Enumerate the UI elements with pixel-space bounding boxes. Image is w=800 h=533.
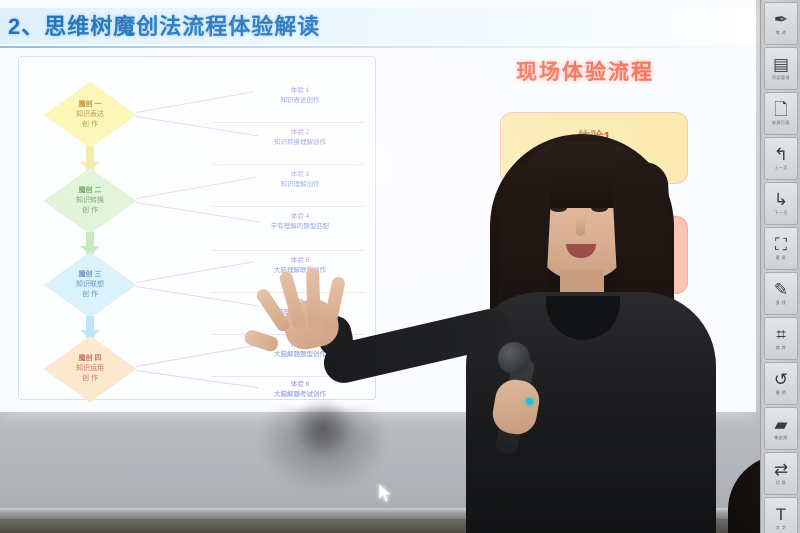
text-tool-glyph: T bbox=[776, 506, 786, 523]
pen-nib-glyph: ✒ bbox=[774, 11, 788, 28]
screen-capture-caption: 截 屏 bbox=[776, 255, 787, 261]
flow-step-1-line2: 知识表达 bbox=[76, 110, 104, 120]
experience-label-1-num: 体验 1 bbox=[236, 86, 364, 96]
flow-step-4-index: 魔创 四 bbox=[79, 354, 102, 364]
label-separator bbox=[212, 250, 364, 251]
title-divider bbox=[0, 46, 756, 48]
page-prev-caption: 上一页 bbox=[774, 165, 788, 171]
presenter-nose bbox=[576, 216, 585, 236]
line-tool-icon[interactable]: ✎ 直 线 bbox=[764, 272, 798, 315]
flow-step-2-line3: 创 作 bbox=[82, 206, 98, 216]
flow-step-4-line2: 知识运用 bbox=[76, 364, 104, 374]
right-panel-heading: 现场体验流程 bbox=[516, 56, 654, 86]
flow-step-2-line2: 知识转换 bbox=[76, 196, 104, 206]
slide-title: 2、思维树魔创法流程体验解读 bbox=[8, 9, 320, 41]
pages-stack-caption: 页面管理 bbox=[772, 75, 790, 81]
experience-label-2[interactable]: 体验 2 知识转换理解创作 bbox=[236, 128, 364, 149]
experience-label-3[interactable]: 体验 3 知识理解创作 bbox=[236, 170, 364, 191]
presenter-pointing-hand bbox=[268, 260, 348, 346]
flow-step-1-line3: 创 作 bbox=[82, 120, 98, 130]
crop-marks-icon[interactable]: ⌗ 裁 剪 bbox=[764, 317, 798, 360]
label-separator bbox=[212, 206, 364, 207]
text-tool-icon[interactable]: T 文 字 bbox=[764, 497, 798, 533]
experience-label-2-text: 知识转换理解创作 bbox=[236, 138, 364, 148]
page-next-icon[interactable]: ↳ 下一页 bbox=[764, 182, 798, 225]
flow-step-4-line3: 创 作 bbox=[82, 374, 98, 384]
experience-label-2-num: 体验 2 bbox=[236, 128, 364, 138]
experience-label-3-text: 知识理解创作 bbox=[236, 180, 364, 190]
pages-stack-icon[interactable]: ▤ 页面管理 bbox=[764, 47, 798, 90]
experience-label-3-num: 体验 3 bbox=[236, 170, 364, 180]
experience-label-4[interactable]: 体验 4 学有理解的题型匹配 bbox=[236, 212, 364, 233]
blank-page-icon[interactable]: 🗋 新建页面 bbox=[764, 92, 798, 135]
page-prev-glyph: ↰ bbox=[774, 146, 788, 163]
undo-arrow-caption: 撤 销 bbox=[776, 390, 787, 396]
crop-marks-caption: 裁 剪 bbox=[776, 345, 787, 351]
page-prev-icon[interactable]: ↰ 上一页 bbox=[764, 137, 798, 180]
flow-step-3-index: 魔创 三 bbox=[79, 270, 102, 280]
undo-arrow-glyph: ↺ bbox=[774, 371, 788, 388]
swap-refresh-caption: 切 换 bbox=[776, 480, 787, 486]
page-next-glyph: ↳ bbox=[774, 191, 788, 208]
line-tool-caption: 直 线 bbox=[776, 300, 787, 306]
screen-capture-glyph: ⛶ bbox=[775, 236, 787, 253]
microphone-head bbox=[498, 342, 530, 374]
flow-step-1-index: 魔创 一 bbox=[79, 100, 102, 110]
mouse-pointer bbox=[379, 484, 392, 503]
experience-label-4-num: 体验 4 bbox=[236, 212, 364, 222]
blank-page-glyph: 🗋 bbox=[774, 101, 788, 118]
smartboard-tool-strip[interactable]: ✒ 笔 迹 ▤ 页面管理 🗋 新建页面 ↰ 上一页 ↳ 下一页 ⛶ 截 屏 ✎ … bbox=[760, 0, 800, 533]
eraser-glyph: ▰ bbox=[774, 416, 787, 433]
pen-nib-icon[interactable]: ✒ 笔 迹 bbox=[764, 2, 798, 45]
hand-shadow-core bbox=[292, 398, 354, 456]
screenshot-root: 2、思维树魔创法流程体验解读 魔创 一 知识表达 创 作 魔创 二 知识转换 创… bbox=[0, 0, 800, 533]
pages-stack-glyph: ▤ bbox=[773, 56, 789, 73]
flow-step-2-index: 魔创 二 bbox=[79, 186, 102, 196]
pen-nib-caption: 笔 迹 bbox=[776, 30, 787, 36]
label-separator bbox=[212, 122, 364, 123]
swap-refresh-icon[interactable]: ⇄ 切 换 bbox=[764, 452, 798, 495]
flow-step-3-line2: 知识联想 bbox=[76, 280, 104, 290]
page-next-caption: 下一页 bbox=[774, 210, 788, 216]
eraser-icon[interactable]: ▰ 橡皮擦 bbox=[764, 407, 798, 450]
undo-arrow-icon[interactable]: ↺ 撤 销 bbox=[764, 362, 798, 405]
line-tool-glyph: ✎ bbox=[774, 281, 788, 298]
blank-page-caption: 新建页面 bbox=[772, 120, 790, 126]
eraser-caption: 橡皮擦 bbox=[774, 435, 788, 441]
microphone-led-icon bbox=[526, 398, 533, 405]
experience-label-1-text: 知识表达创作 bbox=[236, 96, 364, 106]
flow-step-3-line3: 创 作 bbox=[82, 290, 98, 300]
label-separator bbox=[212, 164, 364, 165]
text-tool-caption: 文 字 bbox=[776, 525, 787, 531]
swap-refresh-glyph: ⇄ bbox=[774, 461, 788, 478]
crop-marks-glyph: ⌗ bbox=[776, 326, 786, 343]
experience-label-4-text: 学有理解的题型匹配 bbox=[236, 222, 364, 232]
screen-capture-icon[interactable]: ⛶ 截 屏 bbox=[764, 227, 798, 270]
experience-label-1[interactable]: 体验 1 知识表达创作 bbox=[236, 86, 364, 107]
hand-finger-ring bbox=[306, 268, 321, 328]
presenter bbox=[430, 120, 740, 533]
